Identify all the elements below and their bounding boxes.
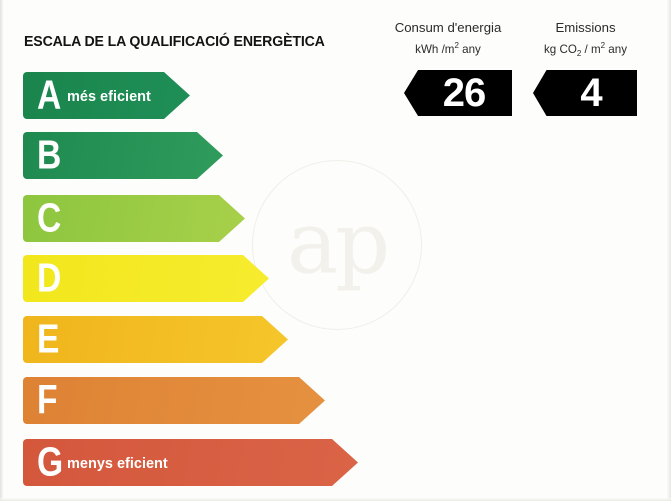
rating-band-shape-e bbox=[23, 316, 288, 363]
rating-band-note-a: més eficient bbox=[67, 88, 151, 104]
metric-emissions-unit-mid: / m bbox=[581, 43, 600, 56]
rating-band-note-g: menys eficient bbox=[67, 455, 168, 471]
rating-band-letter-a: A bbox=[37, 74, 61, 115]
rating-band-b: B bbox=[23, 132, 223, 179]
rating-band-e: E bbox=[23, 316, 288, 363]
metric-emissions-unit-suffix: any bbox=[605, 43, 627, 56]
metric-consum-unit: kWh /m2 any bbox=[381, 38, 515, 58]
metric-header-emissions: Emissions kg CO2 / m2 any bbox=[520, 20, 651, 62]
rating-band-shape-f bbox=[23, 377, 325, 424]
watermark-text: ap bbox=[253, 200, 421, 286]
rating-band-letter-d: D bbox=[37, 257, 61, 298]
rating-band-letter-f: F bbox=[37, 379, 58, 420]
watermark-circle: ap bbox=[252, 160, 422, 330]
rating-band-g: Gmenys eficient bbox=[23, 439, 358, 486]
rating-band-f: F bbox=[23, 377, 325, 424]
metric-consum-title: Consum d'energia bbox=[381, 20, 515, 36]
rating-band-letter-c: C bbox=[37, 197, 61, 238]
metric-header-consum: Consum d'energia kWh /m2 any bbox=[381, 20, 515, 58]
metric-emissions-title: Emissions bbox=[520, 20, 651, 36]
emissions-value-badge: 4 bbox=[533, 70, 637, 116]
paper-edge-right bbox=[667, 0, 671, 501]
page-title: ESCALA DE LA QUALIFICACIÓ ENERGÈTICA bbox=[24, 33, 325, 50]
emissions-value: 4 bbox=[533, 70, 637, 116]
rating-band-a: Amés eficient bbox=[23, 72, 190, 119]
rating-band-letter-g: G bbox=[37, 441, 63, 482]
metric-emissions-unit-prefix: kg CO bbox=[544, 43, 577, 56]
energy-label: ap ESCALA DE LA QUALIFICACIÓ ENERGÈTICA … bbox=[0, 0, 671, 501]
metric-emissions-unit: kg CO2 / m2 any bbox=[520, 38, 651, 62]
paper-edge-left bbox=[0, 0, 3, 501]
metric-consum-unit-prefix: kWh /m bbox=[415, 43, 454, 56]
consumption-value-badge: 26 bbox=[404, 70, 512, 116]
rating-band-c: C bbox=[23, 195, 245, 242]
rating-band-d: D bbox=[23, 255, 269, 302]
rating-band-letter-b: B bbox=[37, 134, 61, 175]
consumption-value: 26 bbox=[404, 70, 512, 116]
rating-band-letter-e: E bbox=[37, 318, 59, 359]
metric-consum-unit-suffix: any bbox=[459, 43, 481, 56]
